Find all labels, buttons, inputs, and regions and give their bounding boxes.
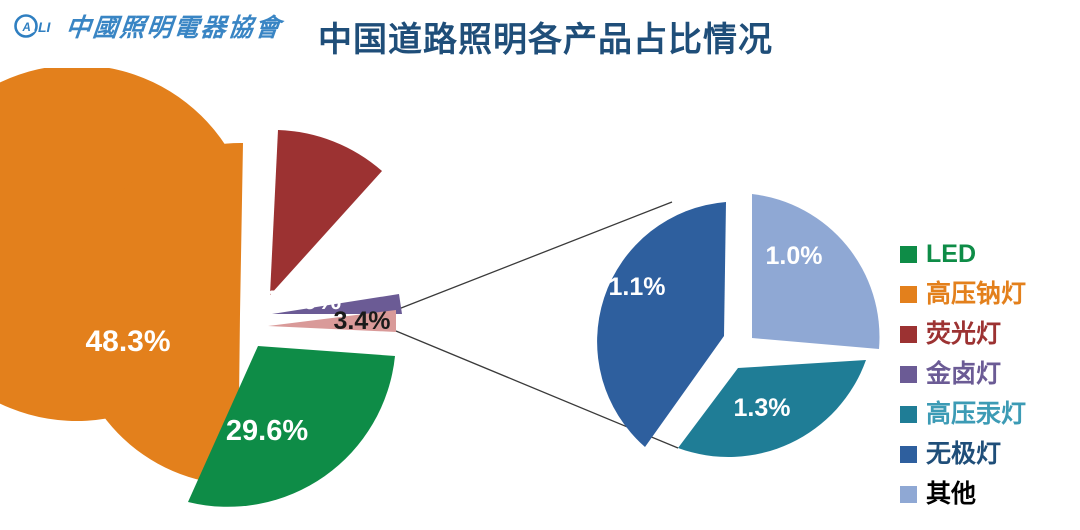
legend-item-electrodeless[interactable]: 无极灯: [900, 434, 1075, 474]
legend-item-led[interactable]: LED: [900, 234, 1075, 274]
legend-item-label: 荧光灯: [926, 322, 1001, 347]
slice-label-1-1: 1.1%: [609, 273, 666, 301]
brand-name-cn: 中國照明電器協會: [64, 8, 284, 44]
svg-text:LI: LI: [38, 19, 52, 35]
legend-item-label: LED: [926, 242, 976, 267]
legend-swatch-icon: [900, 486, 917, 503]
legend-swatch-icon: [900, 286, 917, 303]
legend-item-fluorescent[interactable]: 荧光灯: [900, 314, 1075, 354]
slice-label-29-6: 29.6%: [226, 415, 308, 447]
legend-item-label: 高压汞灯: [926, 402, 1026, 427]
slice-label-16-0: 16.0%: [265, 285, 342, 315]
legend-item-label: 其他: [926, 482, 976, 507]
legend-item-label: 无极灯: [926, 442, 1001, 467]
slice-label-48-3: 48.3%: [85, 325, 170, 358]
chart-legend: LED 高压钠灯 荧光灯 金卤灯 高压汞灯 无极灯 其他: [900, 234, 1075, 514]
legend-swatch-icon: [900, 366, 917, 383]
legend-swatch-icon: [900, 406, 917, 423]
legend-item-metal-halide[interactable]: 金卤灯: [900, 354, 1075, 394]
cali-logo-icon: A LI: [14, 11, 60, 41]
legend-item-high-pressure-sodium[interactable]: 高压钠灯: [900, 274, 1075, 314]
pie-chart-figure: 48.3% 16.0% 2.7% 3.4% 29.6% 1.0% 1.3% 1.…: [0, 68, 1080, 530]
brand-lockup: A LI 中國照明電器協會: [14, 8, 282, 44]
slice-label-2-7: 2.7%: [350, 276, 398, 299]
slice-label-3-4: 3.4%: [334, 307, 391, 335]
legend-item-high-pressure-mercury[interactable]: 高压汞灯: [900, 394, 1075, 434]
legend-swatch-icon: [900, 446, 917, 463]
legend-item-others[interactable]: 其他: [900, 474, 1075, 514]
page-title: 中国道路照明各产品占比情况: [318, 12, 773, 61]
slice-label-1-0: 1.0%: [766, 242, 823, 270]
legend-swatch-icon: [900, 326, 917, 343]
main-slice-fluorescent[interactable]: [270, 130, 382, 295]
svg-text:A: A: [22, 22, 31, 34]
legend-item-label: 高压钠灯: [926, 282, 1026, 307]
detail-slice-others[interactable]: [752, 194, 879, 349]
slice-label-1-3: 1.3%: [734, 394, 791, 422]
main-pie-group: [0, 68, 402, 507]
legend-swatch-icon: [900, 246, 917, 263]
legend-item-label: 金卤灯: [926, 362, 1001, 387]
header-bar: A LI 中國照明電器協會 中国道路照明各产品占比情况: [0, 0, 1080, 68]
